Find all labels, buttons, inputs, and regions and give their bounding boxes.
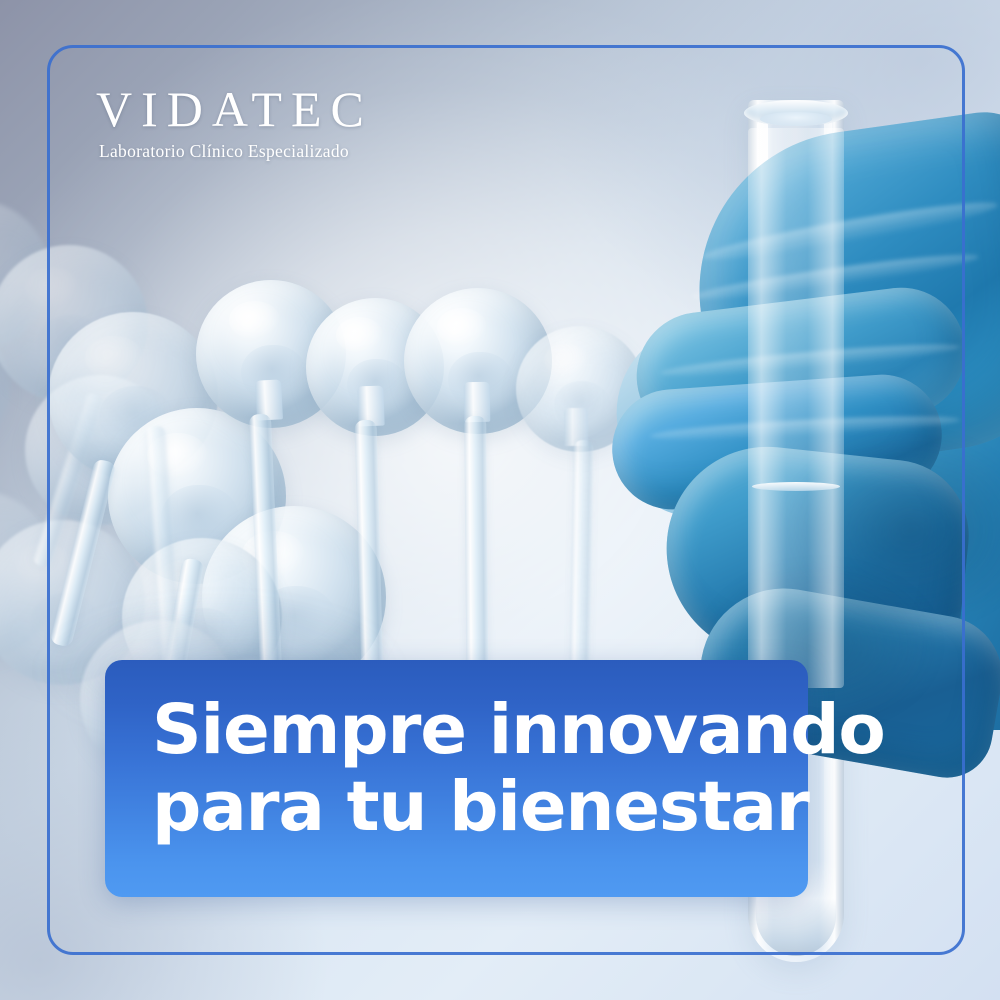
poster-canvas: VIDATEC Laboratorio Clínico Especializad… [0, 0, 1000, 1000]
brand-logo: VIDATEC Laboratorio Clínico Especializad… [96, 84, 373, 162]
headline-line-1: Siempre innovando [152, 692, 772, 769]
headline-text: Siempre innovando para tu bienestar [152, 692, 772, 847]
headline-banner: Siempre innovando para tu bienestar [105, 660, 808, 897]
brand-name: VIDATEC [96, 84, 373, 134]
test-tube-liquid-level [752, 482, 840, 491]
headline-line-2: para tu bienestar [152, 769, 772, 846]
brand-tagline: Laboratorio Clínico Especializado [99, 141, 373, 162]
test-tube-inner-opening [760, 112, 832, 126]
